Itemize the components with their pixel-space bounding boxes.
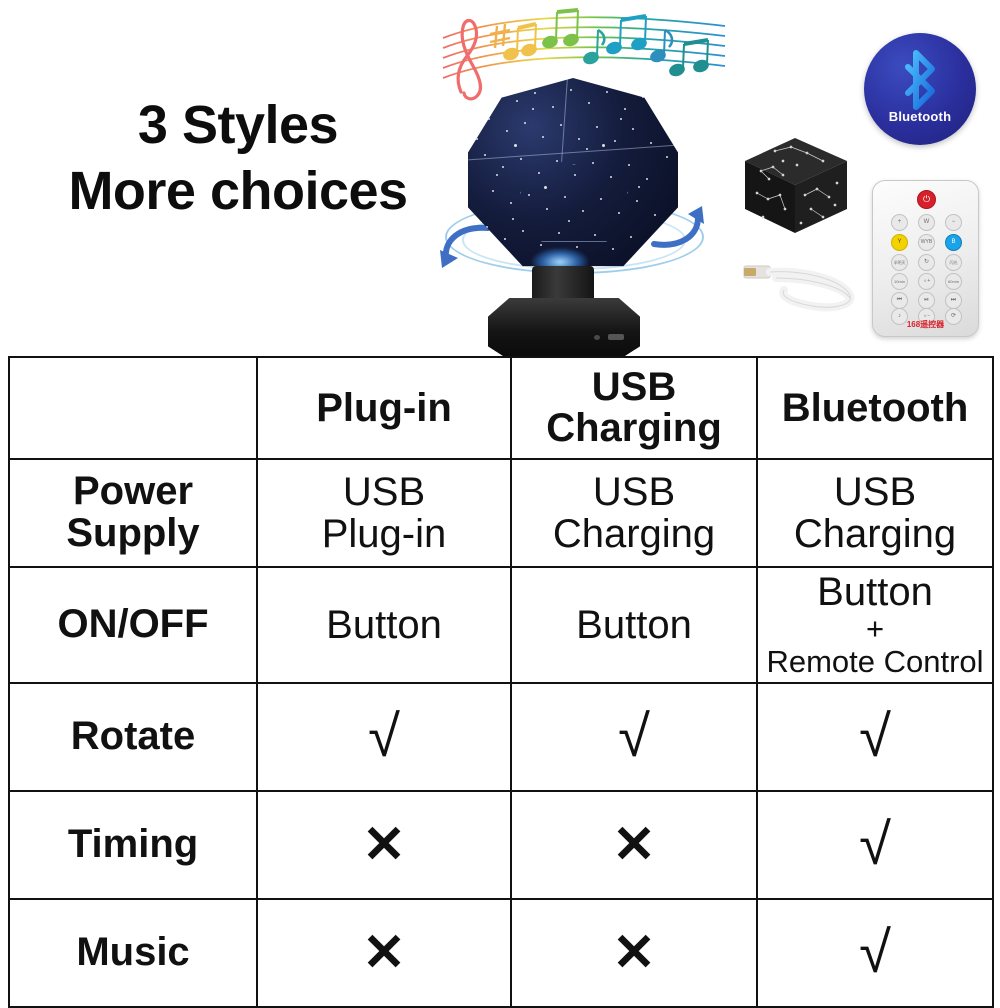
table-row: Timing ✕ ✕ √: [9, 791, 993, 899]
check-icon: √: [618, 708, 650, 766]
bluetooth-badge-label: Bluetooth: [864, 109, 976, 124]
column-header-usb-charging-line1: USB: [516, 367, 752, 408]
check-icon: √: [859, 924, 891, 982]
comparison-table: Plug-in USB Charging Bluetooth Power Sup…: [8, 356, 994, 1008]
check-icon: √: [859, 708, 891, 766]
cross-icon: ✕: [612, 927, 656, 979]
bluetooth-icon: [896, 49, 944, 111]
cell-line-2: Charging: [762, 513, 988, 555]
remote-previous-button[interactable]: ⏮: [891, 292, 908, 309]
remote-timer-60min-button[interactable]: 60min: [945, 273, 962, 290]
remote-model-label: 168遥控器: [873, 319, 978, 330]
remote-fade-button[interactable]: 半明灭: [891, 254, 908, 271]
column-header-plug-in: Plug-in: [257, 357, 511, 459]
row-label-rotate: Rotate: [9, 683, 257, 791]
remote-power-button[interactable]: ⏻: [917, 190, 936, 209]
cell-line-2: Charging: [516, 513, 752, 555]
cross-icon: ✕: [362, 927, 406, 979]
column-header-usb-charging-line2: Charging: [516, 408, 752, 449]
rotation-arrow-icon: [646, 198, 706, 258]
row-label-music: Music: [9, 899, 257, 1007]
cell-line-1: USB: [262, 471, 506, 513]
cell-timing-usb-charging: ✕: [511, 791, 757, 899]
check-icon: √: [859, 816, 891, 874]
table-row: ON/OFF Button Button Button + Remote Con…: [9, 567, 993, 683]
power-button-port: [594, 335, 600, 340]
cell-line-1: USB: [762, 471, 988, 513]
table-corner-cell: [9, 357, 257, 459]
remote-plus-button[interactable]: +: [891, 214, 908, 231]
cell-music-bluetooth: √: [757, 899, 993, 1007]
cell-power-supply-bluetooth: USB Charging: [757, 459, 993, 567]
check-icon: √: [368, 708, 400, 766]
cell-rotate-usb-charging: √: [511, 683, 757, 791]
table-header-row: Plug-in USB Charging Bluetooth: [9, 357, 993, 459]
cell-on-off-bluetooth: Button + Remote Control: [757, 567, 993, 683]
remote-next-button[interactable]: ⏭: [945, 292, 962, 309]
cell-power-supply-usb-charging: USB Charging: [511, 459, 757, 567]
cross-icon: ✕: [612, 819, 656, 871]
bluetooth-badge: Bluetooth: [864, 33, 976, 145]
table-row: Music ✕ ✕ √: [9, 899, 993, 1007]
gift-box-image: [735, 133, 855, 238]
remote-brightness-up-button[interactable]: ☼+: [918, 273, 935, 290]
remote-w-button[interactable]: W: [918, 214, 935, 231]
row-label-timing: Timing: [9, 791, 257, 899]
cell-line-2: Plug-in: [262, 513, 506, 555]
usb-port: [608, 334, 624, 340]
cell-line-1: Button: [762, 571, 988, 613]
usb-cable-image: [740, 248, 875, 320]
remote-blue-button[interactable]: B: [945, 234, 962, 251]
remote-yellow-button[interactable]: Y: [891, 234, 908, 251]
remote-flash-button[interactable]: 闪光: [945, 254, 962, 271]
row-label-power-supply-line2: Supply: [14, 513, 252, 555]
remote-wyb-button[interactable]: WYB: [918, 234, 935, 251]
cell-on-off-plug-in: Button: [257, 567, 511, 683]
cell-timing-plug-in: ✕: [257, 791, 511, 899]
cell-rotate-bluetooth: √: [757, 683, 993, 791]
cell-power-supply-plug-in: USB Plug-in: [257, 459, 511, 567]
cell-timing-bluetooth: √: [757, 791, 993, 899]
cell-music-usb-charging: ✕: [511, 899, 757, 1007]
row-label-on-off: ON/OFF: [9, 567, 257, 683]
row-label-power-supply-line1: Power: [14, 471, 252, 513]
row-label-power-supply: Power Supply: [9, 459, 257, 567]
cell-rotate-plug-in: √: [257, 683, 511, 791]
remote-rotate-button[interactable]: ↻: [918, 254, 935, 271]
cell-music-plug-in: ✕: [257, 899, 511, 1007]
remote-control-image: ⏻ + W − Y WYB B 半明灭 ↻ 闪光 10min ☼+ 60min …: [872, 180, 979, 337]
star-projector-image: [440, 70, 705, 360]
cell-line-2: +: [762, 613, 988, 646]
hero-banner: 3 Styles More choices: [0, 0, 1000, 356]
table-row: Power Supply USB Plug-in USB Charging US…: [9, 459, 993, 567]
headline-line-2: More choices: [38, 162, 438, 220]
cell-line-3: Remote Control: [762, 645, 988, 679]
cross-icon: ✕: [362, 819, 406, 871]
remote-play-pause-button[interactable]: ⏯: [918, 292, 935, 309]
remote-timer-10min-button[interactable]: 10min: [891, 273, 908, 290]
headline-line-1: 3 Styles: [38, 96, 438, 154]
column-header-usb-charging: USB Charging: [511, 357, 757, 459]
cell-on-off-usb-charging: Button: [511, 567, 757, 683]
table-row: Rotate √ √ √: [9, 683, 993, 791]
column-header-bluetooth: Bluetooth: [757, 357, 993, 459]
remote-minus-button[interactable]: −: [945, 214, 962, 231]
projector-base: [488, 298, 640, 360]
cell-line-1: USB: [516, 471, 752, 513]
page-title: 3 Styles More choices: [38, 96, 438, 221]
